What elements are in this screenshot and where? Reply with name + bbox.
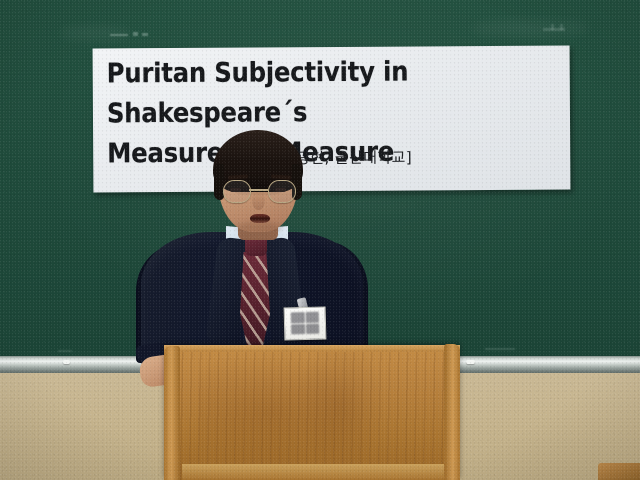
bottom-right-wooden-object: [598, 463, 640, 480]
lectern-top-edge: [164, 345, 460, 352]
name-badge: [284, 306, 327, 340]
eyeglasses-lens-left: [223, 180, 251, 203]
lectern-post-right: [444, 344, 460, 480]
eyeglasses-lens-right: [268, 180, 296, 203]
badge-glyph: [291, 324, 305, 335]
badge-glyph: [305, 323, 319, 334]
chin-shadow: [236, 222, 282, 233]
name-badge-text: [291, 312, 320, 335]
badge-glyph: [291, 312, 305, 323]
nose: [252, 191, 265, 210]
lectern-post-left: [164, 346, 180, 480]
badge-glyph: [305, 312, 319, 323]
lectern-base: [182, 464, 444, 480]
presentation-photo: Puritan Subjectivity in Shakespeare´s Me…: [0, 0, 640, 480]
wooden-lectern: [164, 345, 460, 480]
